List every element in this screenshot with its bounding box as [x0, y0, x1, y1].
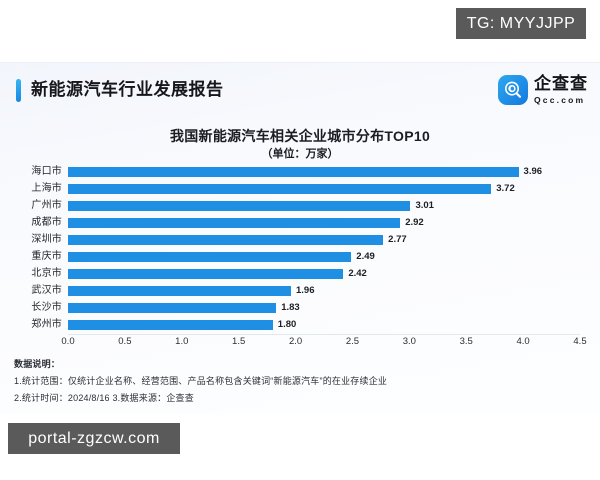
qcc-logo-en: Qcc.com [534, 96, 588, 105]
bar-fill[interactable] [68, 235, 383, 245]
notes-heading: 数据说明： [14, 356, 584, 373]
bar-row: 深圳市2.77 [0, 231, 600, 248]
watermark-bottom-left: portal-zgzcw.com [8, 423, 180, 454]
bar-fill[interactable] [68, 184, 491, 194]
bar-value-label: 2.42 [348, 265, 367, 282]
bar-chart-plot: 海口市3.96上海市3.72广州市3.01成都市2.92深圳市2.77重庆市2.… [0, 163, 600, 363]
x-axis-tick-label: 3.0 [403, 336, 416, 347]
report-card: 新能源汽车行业发展报告 企查查 Qcc.com 我国新能源汽车相关企业城市分布T… [0, 62, 600, 413]
bar-category-label: 上海市 [0, 180, 62, 197]
bar-category-label: 深圳市 [0, 231, 62, 248]
qcc-magnifier-icon [498, 75, 528, 105]
x-axis-tick-label: 0.5 [118, 336, 131, 347]
report-header: 新能源汽车行业发展报告 企查查 Qcc.com [0, 62, 600, 114]
bar-row: 成都市2.92 [0, 214, 600, 231]
x-axis-tick-label: 2.5 [346, 336, 359, 347]
bar-track [68, 303, 276, 313]
notes-line-2: 2.统计时间：2024/8/16 3.数据来源：企查查 [14, 390, 584, 407]
bar-category-label: 成都市 [0, 214, 62, 231]
title-accent-bar [16, 79, 21, 102]
bar-row: 海口市3.96 [0, 163, 600, 180]
bar-fill[interactable] [68, 269, 343, 279]
bar-fill[interactable] [68, 286, 291, 296]
bar-value-label: 3.01 [415, 197, 434, 214]
x-axis-tick-label: 3.5 [460, 336, 473, 347]
bar-row: 北京市2.42 [0, 265, 600, 282]
bar-track [68, 235, 383, 245]
bar-fill[interactable] [68, 218, 400, 228]
bar-track [68, 201, 410, 211]
bar-value-label: 1.96 [296, 282, 315, 299]
bar-value-label: 1.83 [281, 299, 300, 316]
bar-fill[interactable] [68, 167, 519, 177]
x-axis-tick-label: 4.0 [517, 336, 530, 347]
data-notes: 数据说明： 1.统计范围：仅统计企业名称、经营范围、产品名称包含关键词“新能源汽… [14, 356, 584, 407]
page-title: 新能源汽车行业发展报告 [31, 78, 224, 102]
watermark-top-right: TG: MYYJJPP [456, 8, 586, 39]
x-axis-tick-label: 1.5 [232, 336, 245, 347]
bar-row: 郑州市1.80 [0, 316, 600, 333]
bar-category-label: 广州市 [0, 197, 62, 214]
bar-fill[interactable] [68, 252, 351, 262]
bar-value-label: 1.80 [278, 316, 297, 333]
bar-track [68, 184, 491, 194]
x-axis: 0.00.51.01.52.02.53.03.54.04.5 [0, 336, 600, 354]
qcc-wordmark: 企查查 Qcc.com [534, 75, 588, 105]
x-axis-line [68, 334, 580, 335]
bar-track [68, 320, 273, 330]
bar-row: 长沙市1.83 [0, 299, 600, 316]
bar-value-label: 2.77 [388, 231, 407, 248]
qcc-logo[interactable]: 企查查 Qcc.com [498, 75, 588, 105]
x-axis-tick-label: 0.0 [61, 336, 74, 347]
bar-fill[interactable] [68, 320, 273, 330]
bar-track [68, 269, 343, 279]
bar-row: 重庆市2.49 [0, 248, 600, 265]
bar-category-label: 郑州市 [0, 316, 62, 333]
bar-fill[interactable] [68, 303, 276, 313]
bar-value-label: 2.49 [356, 248, 375, 265]
bar-row: 上海市3.72 [0, 180, 600, 197]
chart-subtitle: （单位：万家） [0, 145, 600, 161]
x-axis-tick-label: 2.0 [289, 336, 302, 347]
bar-row: 武汉市1.96 [0, 282, 600, 299]
bar-category-label: 北京市 [0, 265, 62, 282]
bar-value-label: 3.96 [524, 163, 543, 180]
bar-track [68, 167, 519, 177]
notes-line-1: 1.统计范围：仅统计企业名称、经营范围、产品名称包含关键词“新能源汽车”的在业存… [14, 373, 584, 390]
chart-title: 我国新能源汽车相关企业城市分布TOP10 [0, 126, 600, 146]
bar-category-label: 武汉市 [0, 282, 62, 299]
bar-track [68, 218, 400, 228]
x-axis-tick-label: 4.5 [573, 336, 586, 347]
bar-track [68, 252, 351, 262]
bar-category-label: 重庆市 [0, 248, 62, 265]
bar-value-label: 3.72 [496, 180, 515, 197]
bar-track [68, 286, 291, 296]
bar-row: 广州市3.01 [0, 197, 600, 214]
bar-value-label: 2.92 [405, 214, 424, 231]
x-axis-tick-label: 1.0 [175, 336, 188, 347]
qcc-logo-cn: 企查查 [534, 75, 588, 94]
bar-category-label: 长沙市 [0, 299, 62, 316]
bar-category-label: 海口市 [0, 163, 62, 180]
bar-fill[interactable] [68, 201, 410, 211]
